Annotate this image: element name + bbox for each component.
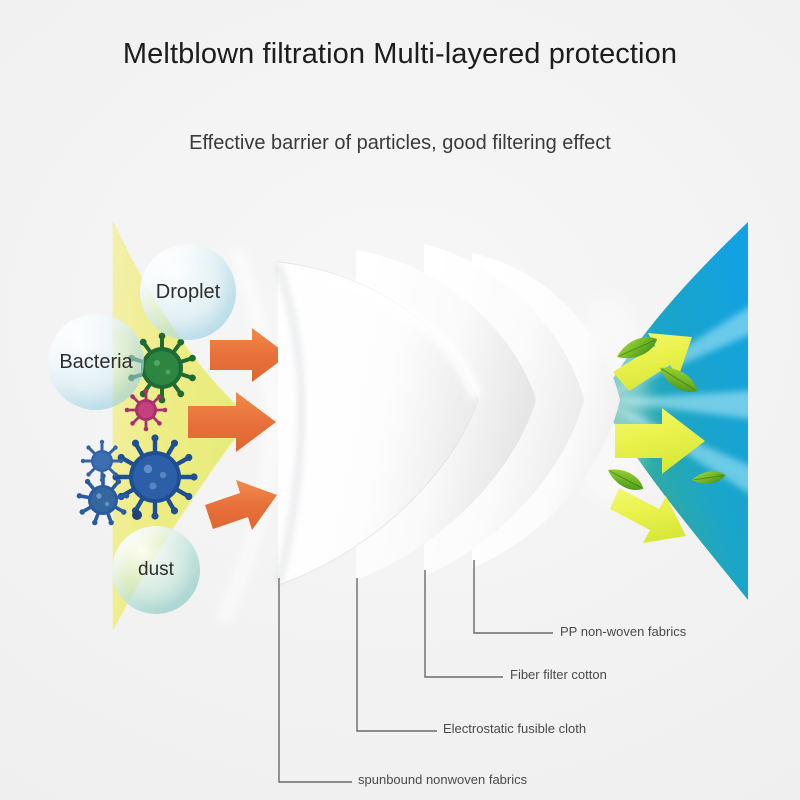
callout-label-electrostatic: Electrostatic fusible cloth xyxy=(443,721,586,736)
callout-label-fiber-filter: Fiber filter cotton xyxy=(510,667,607,682)
infographic-canvas: Meltblown filtration Multi-layered prote… xyxy=(0,0,800,800)
bubble-bacteria-label: Bacteria xyxy=(59,351,132,374)
virus-blue-small-icon xyxy=(81,440,123,482)
callout-line-pp-non-woven xyxy=(474,560,553,633)
bubble-droplet: Droplet xyxy=(140,244,236,340)
virus-blue-dot-icon xyxy=(132,510,142,520)
callout-label-spunbound: spunbound nonwoven fabrics xyxy=(358,772,527,787)
callout-line-fiber-filter xyxy=(425,570,503,677)
layered-mask xyxy=(278,244,620,585)
bubble-droplet-label: Droplet xyxy=(156,281,220,304)
bubble-bacteria: Bacteria xyxy=(48,314,144,410)
bubble-dust-label: dust xyxy=(138,559,174,581)
bubble-dust: dust xyxy=(112,526,200,614)
callout-line-spunbound xyxy=(279,578,352,782)
callout-label-pp-non-woven: PP non-woven fabrics xyxy=(560,624,686,639)
virus-magenta-icon xyxy=(125,389,168,432)
